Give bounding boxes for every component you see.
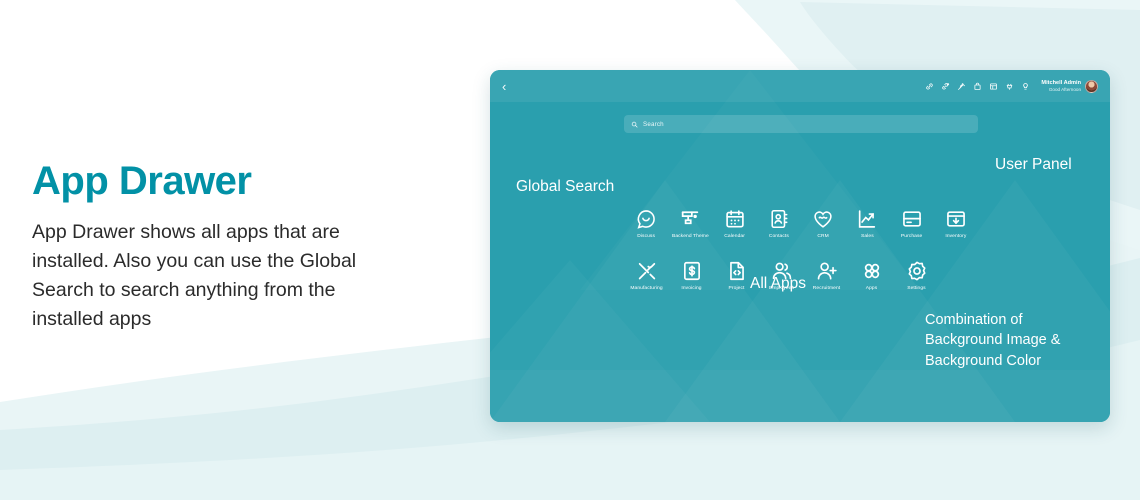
slide-canvas: App Drawer App Drawer shows all apps tha… (0, 0, 1140, 500)
app-label: Purchase (901, 235, 922, 240)
app-label: Sales (861, 235, 874, 240)
inventory-icon (945, 208, 967, 230)
discuss-icon (635, 208, 657, 230)
panel-topbar: ‹ (490, 70, 1110, 102)
contacts-icon (768, 208, 790, 230)
app-label: Invoicing (681, 287, 701, 292)
avatar[interactable] (1085, 80, 1098, 93)
app-label: Manufacturing (630, 287, 662, 292)
search-input[interactable]: Search (624, 115, 978, 133)
copy-block: App Drawer App Drawer shows all apps tha… (32, 160, 432, 333)
app-label: Apps (866, 287, 878, 292)
app-label: Backend Theme (672, 235, 709, 240)
annotation-all-apps: All Apps (750, 274, 806, 295)
app-item-settings[interactable]: Settings (894, 260, 939, 292)
app-item-contacts[interactable]: Contacts (757, 208, 801, 240)
project-icon (726, 260, 748, 282)
backend-theme-icon (679, 208, 701, 230)
annotation-label-line-2: Background Image & (925, 330, 1060, 350)
app-label: Contacts (769, 235, 789, 240)
app-label: Project (729, 287, 745, 292)
search-icon (631, 121, 638, 128)
app-item-apps[interactable]: Apps (849, 260, 894, 292)
crm-icon (812, 208, 834, 230)
purchase-icon (901, 208, 923, 230)
page-description: App Drawer shows all apps that are insta… (32, 218, 392, 333)
grid-icon[interactable] (989, 82, 998, 91)
app-label: Calendar (724, 235, 745, 240)
app-item-backend-theme[interactable]: Backend Theme (668, 208, 712, 240)
apps-icon (861, 260, 883, 282)
app-label: Discuss (637, 235, 655, 240)
app-item-purchase[interactable]: Purchase (890, 208, 934, 240)
annotation-label: Global Search (516, 177, 614, 198)
sales-icon (856, 208, 878, 230)
app-row-1: Discuss Backend Theme (624, 208, 978, 240)
user-greeting: Good Afternoon (1049, 87, 1081, 92)
app-item-calendar[interactable]: Calendar (713, 208, 757, 240)
manufacturing-icon (636, 260, 658, 282)
app-item-sales[interactable]: Sales (845, 208, 889, 240)
app-item-recruitment[interactable]: Recruitment (804, 260, 849, 292)
search-placeholder: Search (643, 121, 664, 128)
settings-icon (906, 260, 928, 282)
app-label: Inventory (945, 235, 966, 240)
app-label: CRM (817, 235, 828, 240)
app-item-manufacturing[interactable]: Manufacturing (624, 260, 669, 292)
app-item-crm[interactable]: CRM (801, 208, 845, 240)
annotation-background: Combination of Background Image & Backgr… (925, 310, 1060, 371)
calendar-icon (724, 208, 746, 230)
back-chevron-icon[interactable]: ‹ (502, 80, 506, 93)
pin-icon[interactable] (957, 82, 966, 91)
annotation-label-line-3: Background Color (925, 351, 1060, 371)
link-icon[interactable] (925, 82, 934, 91)
invoicing-icon (681, 260, 703, 282)
user-name-block: Mitchell Admin Good Afternoon (1041, 80, 1081, 91)
app-item-inventory[interactable]: Inventory (934, 208, 978, 240)
bag-icon[interactable] (973, 82, 982, 91)
annotation-label-line-1: Combination of (925, 310, 1060, 330)
recruitment-icon (816, 260, 838, 282)
app-item-discuss[interactable]: Discuss (624, 208, 668, 240)
annotation-label: User Panel (995, 155, 1072, 176)
user-panel[interactable]: Mitchell Admin Good Afternoon (1041, 80, 1098, 93)
bug-icon[interactable] (1005, 82, 1014, 91)
annotation-global-search: Global Search (516, 177, 614, 198)
link-badge-icon[interactable] (941, 82, 950, 91)
annotation-user-panel: User Panel (995, 155, 1072, 176)
annotation-label: All Apps (750, 274, 806, 295)
bulb-icon[interactable] (1021, 82, 1030, 91)
topbar-system-tray: Mitchell Admin Good Afternoon (925, 80, 1098, 93)
app-item-invoicing[interactable]: Invoicing (669, 260, 714, 292)
app-label: Settings (907, 287, 925, 292)
page-title: App Drawer (32, 160, 432, 202)
app-label: Recruitment (813, 287, 840, 292)
